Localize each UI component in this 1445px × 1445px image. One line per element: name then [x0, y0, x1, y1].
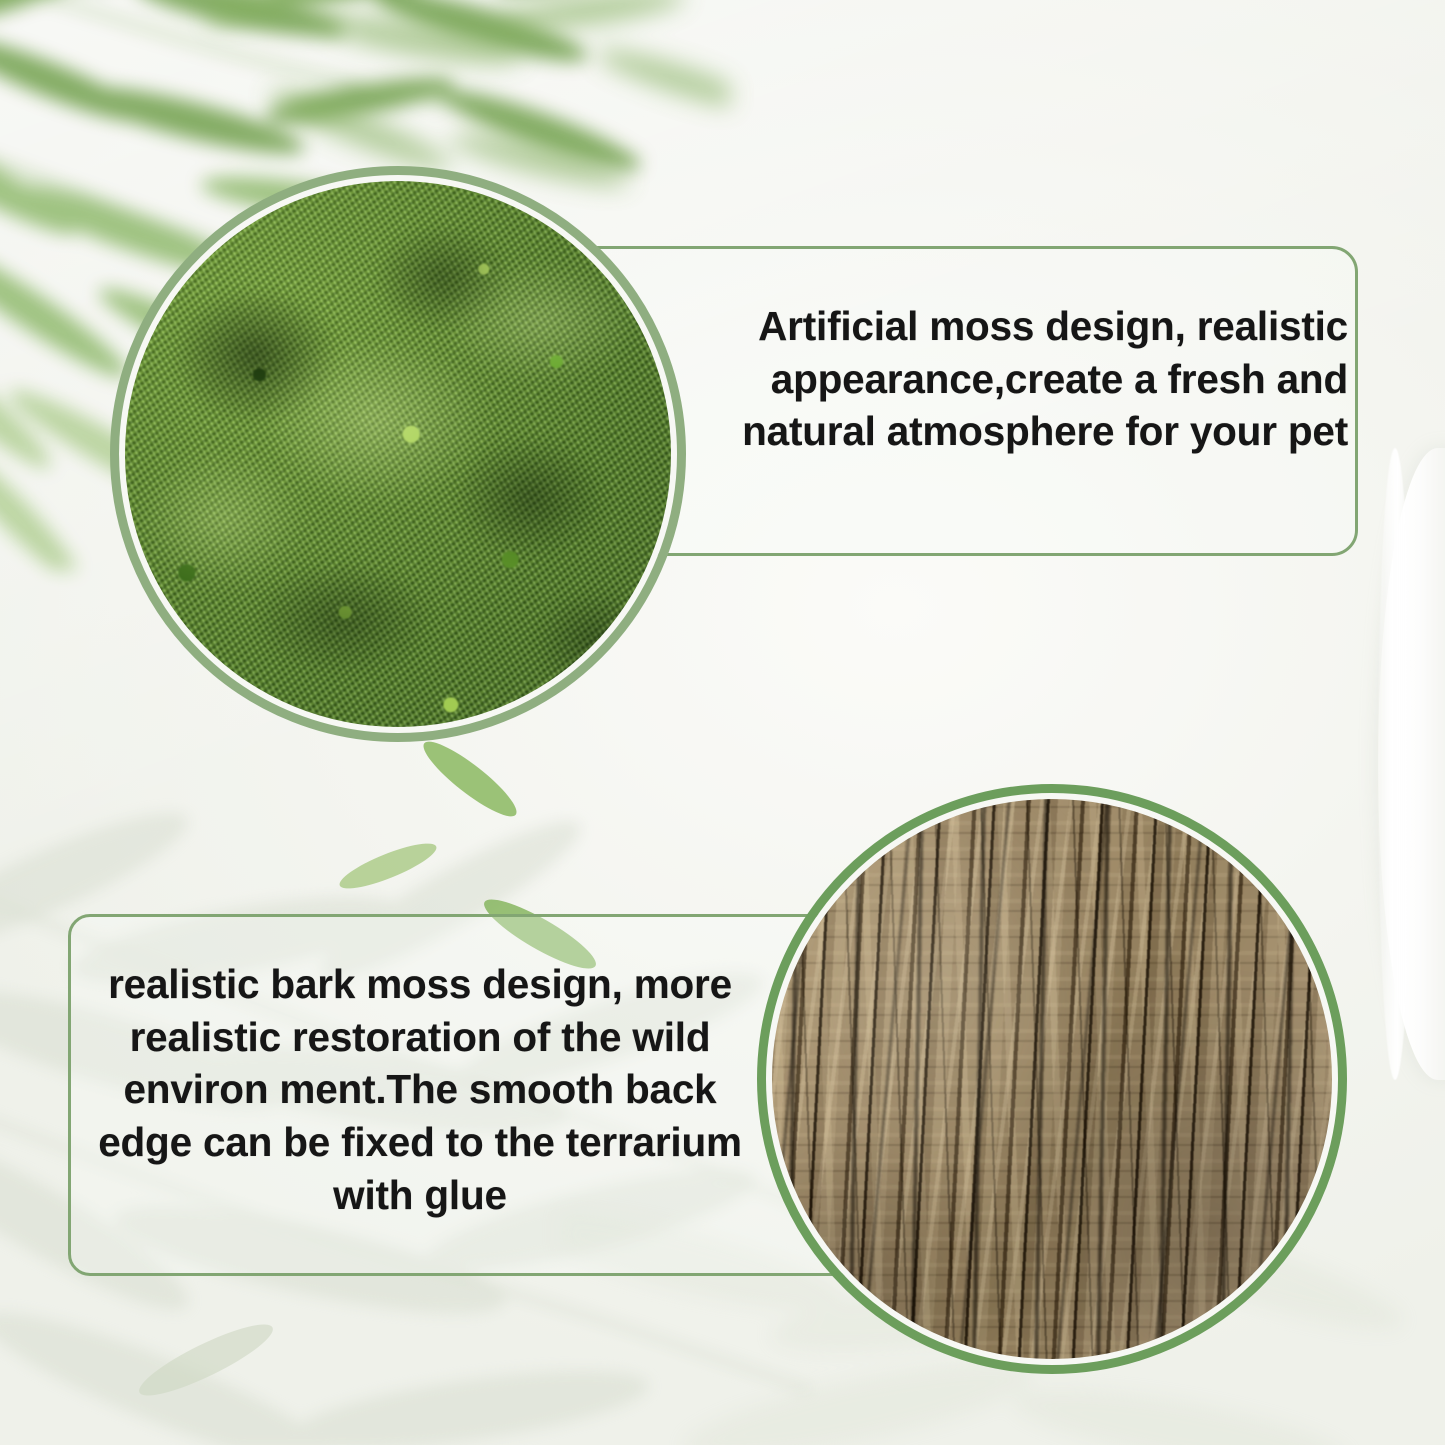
moss-highlight-layer: [123, 179, 673, 729]
bark-shadow-layer: [770, 797, 1334, 1361]
bark-photo-circle: [757, 784, 1347, 1374]
infographic-canvas: Artificial moss design, realistic appear…: [0, 0, 1445, 1445]
white-cylinder-lip: [1378, 448, 1412, 1080]
bark-photo-inner: [770, 797, 1334, 1361]
moss-photo-inner: [123, 179, 673, 729]
moss-photo-circle: [110, 166, 686, 742]
callout-text-moss: Artificial moss design, realistic appear…: [700, 300, 1348, 458]
callout-text-bark: realistic bark moss design, more realist…: [84, 958, 756, 1221]
